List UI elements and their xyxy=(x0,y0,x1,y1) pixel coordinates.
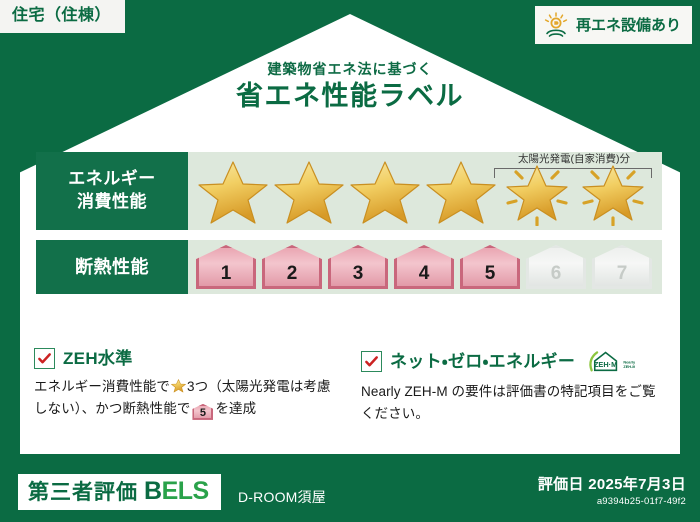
building-type-tag: 住宅（住棟） xyxy=(0,0,125,33)
property-name: D-ROOM須屋 xyxy=(238,490,326,504)
zeh-desc-part1: エネルギー消費性能で xyxy=(34,379,170,394)
bels-logo-b: B xyxy=(144,477,162,505)
building-type-label: 住宅（住棟） xyxy=(12,7,111,24)
insulation-badge: 5 xyxy=(460,245,520,289)
insulation-badge: 4 xyxy=(394,245,454,289)
evaluation-id: a9394b25-01f7-49f2 xyxy=(538,496,686,508)
insulation-badge-number: 2 xyxy=(287,263,298,285)
checkbox-nze xyxy=(361,351,382,372)
info-column-zeh: ZEH水準 エネルギー消費性能で3つ（太陽光発電は考慮しない）、かつ断熱性能で5… xyxy=(34,348,339,425)
row-value-insulation: 1 2 3 4 5 xyxy=(188,240,662,294)
zeh-description: エネルギー消費性能で3つ（太陽光発電は考慮しない）、かつ断熱性能で5を達成 xyxy=(34,376,339,420)
renewable-energy-badge: 再エネ設備あり xyxy=(535,6,692,44)
check-icon xyxy=(364,354,379,369)
insulation-badge-number: 4 xyxy=(419,263,430,285)
star-item-solar xyxy=(576,155,650,227)
zeh-title: ZEH水準 xyxy=(63,350,133,367)
insulation-badge: 2 xyxy=(262,245,322,289)
footer: 第三者評価 BELS D-ROOM須屋 評価日 2025年7月3日 a9394b… xyxy=(0,458,700,522)
page-title: 省エネ性能ラベル xyxy=(0,82,700,112)
star-icon xyxy=(273,156,345,226)
bels-plate: 第三者評価 BELS xyxy=(18,474,221,510)
checkbox-zeh xyxy=(34,348,55,369)
bels-jp-label: 第三者評価 xyxy=(28,482,138,503)
star-icon-solar xyxy=(577,156,649,226)
row-value-energy-consumption: 太陽光発電(自家消費)分 xyxy=(188,152,662,230)
star-icon xyxy=(425,156,497,226)
insulation-scale: 1 2 3 4 5 xyxy=(188,240,662,294)
inline-star-icon xyxy=(171,378,186,393)
bels-logo-els: ELS xyxy=(162,477,209,505)
renewable-energy-label: 再エネ設備あり xyxy=(576,18,681,33)
star-icon xyxy=(197,156,269,226)
bels-logo: BELS xyxy=(144,479,209,504)
nze-description: Nearly ZEH-M の要件は評価書の特記項目をご覧ください。 xyxy=(361,381,666,425)
insulation-badge-inactive: 6 xyxy=(526,245,586,289)
title-block: 建築物省エネ法に基づく 省エネ性能ラベル xyxy=(0,62,700,112)
star-item xyxy=(424,155,498,227)
nze-title: ネット・ゼロ・エネルギー xyxy=(390,353,575,370)
insulation-badge-number: 5 xyxy=(485,263,496,285)
insulation-badge-number: 1 xyxy=(221,263,232,285)
row-label-insulation: 断熱性能 xyxy=(36,240,188,294)
insulation-badge-number: 7 xyxy=(617,263,628,285)
row-label-energy-consumption: エネルギー 消費性能 xyxy=(36,152,188,230)
zeh-desc-part3: を達成 xyxy=(215,401,256,416)
svg-text:ZEH-M: ZEH-M xyxy=(624,364,636,369)
star-rating xyxy=(188,155,662,227)
inline-insulation-badge: 5 xyxy=(192,404,213,420)
row-energy-consumption: エネルギー 消費性能 太陽光発電(自家消費)分 xyxy=(36,152,662,230)
info-column-nze: ネット・ゼロ・エネルギー ZEH·M Nearly ZEH-M Nearly Z… xyxy=(361,348,666,425)
star-item xyxy=(348,155,422,227)
star-icon xyxy=(349,156,421,226)
title-subtitle: 建築物省エネ法に基づく xyxy=(0,62,700,77)
insulation-badge-number: 3 xyxy=(353,263,364,285)
insulation-badge-number: 6 xyxy=(551,263,562,285)
inline-badge-number: 5 xyxy=(200,407,206,419)
insulation-badge: 3 xyxy=(328,245,388,289)
evaluation-date: 評価日 2025年7月3日 xyxy=(538,477,686,494)
row-label-line2: 消費性能 xyxy=(77,191,147,214)
evaluation-info: 評価日 2025年7月3日 a9394b25-01f7-49f2 xyxy=(538,477,686,508)
star-item xyxy=(196,155,270,227)
star-item xyxy=(272,155,346,227)
insulation-badge: 1 xyxy=(196,245,256,289)
insulation-badge-inactive: 7 xyxy=(592,245,652,289)
row-label-line1: 断熱性能 xyxy=(75,255,149,279)
svg-text:ZEH·M: ZEH·M xyxy=(594,360,617,369)
energy-performance-label: 住宅（住棟） 再エネ設備あり 建築物省エネ法に基づく 省エネ性能ラベル xyxy=(0,0,700,522)
performance-rows: エネルギー 消費性能 太陽光発電(自家消費)分 xyxy=(36,152,662,304)
star-icon-solar xyxy=(501,156,573,226)
solar-sun-icon xyxy=(543,12,569,38)
zeh-heading: ZEH水準 xyxy=(34,348,339,369)
check-icon xyxy=(37,351,52,366)
info-columns: ZEH水準 エネルギー消費性能で3つ（太陽光発電は考慮しない）、かつ断熱性能で5… xyxy=(34,348,666,425)
zeh-m-logo-icon: ZEH·M Nearly ZEH-M xyxy=(587,348,635,374)
star-item-solar xyxy=(500,155,574,227)
row-insulation: 断熱性能 1 2 3 xyxy=(36,240,662,294)
zeh-desc-star-count: 3つ（太陽光発電 xyxy=(187,379,290,394)
nze-heading: ネット・ゼロ・エネルギー ZEH·M Nearly ZEH-M xyxy=(361,348,666,374)
row-label-line1: エネルギー xyxy=(68,168,156,191)
